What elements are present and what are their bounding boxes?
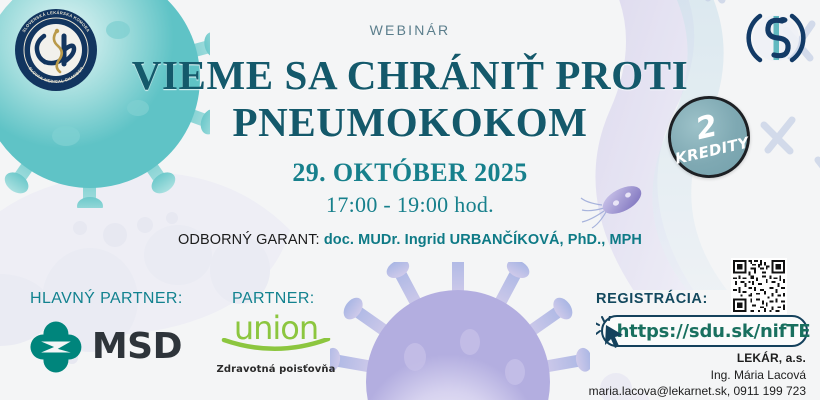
partner-label: PARTNER: [232,290,315,308]
qr-code[interactable] [731,258,787,314]
contact-block: LEKÁR, a.s. Ing. Mária Lacová maria.laco… [589,350,806,400]
kicker-label: WEBINÁR [0,22,820,38]
registration-url[interactable]: https://sdu.sk/nifTE [599,321,811,342]
msd-logo: MSD [30,316,182,378]
main-partner-label: HLAVNÝ PARTNER: [30,290,183,308]
contact-email-phone: maria.lacova@lekarnet.sk, 0911 199 723 [589,383,806,400]
union-wordmark: union [216,312,336,344]
guarantor-label: ODBORNÝ GARANT: [178,232,320,248]
slovak-medical-chamber-logo: SLOVENSKÁ LEKÁRSKA KOMORA SLOVAK MEDICAL… [14,8,98,92]
union-tagline: Zdravotná poisťovňa [216,364,336,375]
sdu-logo [744,6,808,70]
registration-label: REGISTRÁCIA: [596,291,708,307]
msd-wordmark: MSD [92,329,182,365]
contact-organization: LEKÁR, a.s. [589,350,806,367]
msd-clover-icon [30,319,82,375]
webinar-banner: SLOVENSKÁ LEKÁRSKA KOMORA SLOVAK MEDICAL… [0,0,820,400]
registration-url-pill[interactable]: https://sdu.sk/nifTE [601,315,808,347]
event-time: 17:00 - 19:00 hod. [0,192,820,218]
union-logo: union Zdravotná poisťovňa [216,312,336,380]
event-date: 29. OKTÓBER 2025 [0,158,820,188]
guarantor-line: ODBORNÝ GARANT: doc. MUDr. Ingrid URBANČ… [0,232,820,248]
contact-person: Ing. Mária Lacová [589,367,806,384]
guarantor-name: doc. MUDr. Ingrid URBANČÍKOVÁ, PhD., MPH [324,232,642,248]
page-title: VIEME SA CHRÁNIŤ PROTI PNEUMOKOKOM [110,52,710,145]
click-cursor-icon [596,316,630,350]
virus-illustration-purple [330,262,590,400]
